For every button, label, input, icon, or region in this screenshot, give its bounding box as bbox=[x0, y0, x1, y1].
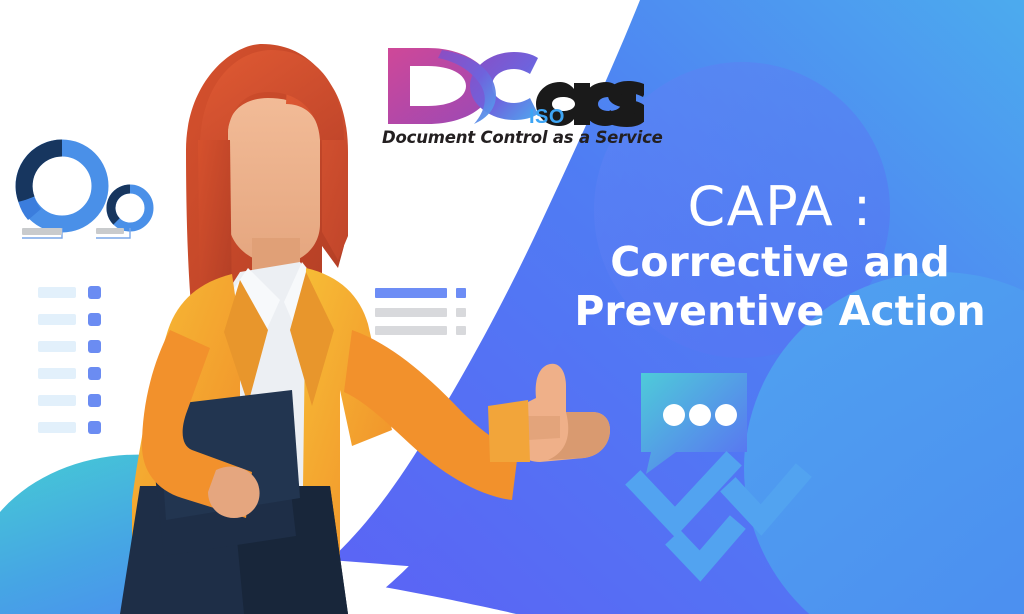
checklist-row bbox=[38, 340, 101, 353]
logo-iso-badge: ISO bbox=[529, 106, 589, 129]
chat-dot bbox=[689, 404, 711, 426]
checklist-row bbox=[38, 286, 101, 299]
headline-line-3: Preventive Action bbox=[560, 287, 1000, 336]
headline-line-1: CAPA : bbox=[560, 176, 1000, 238]
banner-canvas: ISO Document Control as a Service DC aas… bbox=[0, 0, 1024, 614]
chat-dot bbox=[715, 404, 737, 426]
checklist-row bbox=[38, 313, 101, 326]
checklist-row bbox=[38, 367, 101, 380]
checklist-row bbox=[38, 421, 101, 434]
logo-letter-c bbox=[470, 52, 538, 120]
checklist-row bbox=[38, 394, 101, 407]
logo-tagline: Document Control as a Service bbox=[382, 128, 644, 147]
brand-logo[interactable]: ISO Document Control as a Service DC aas bbox=[382, 42, 644, 154]
sleeve-cuff bbox=[488, 400, 530, 462]
headline-block: CAPA : Corrective and Preventive Action bbox=[560, 176, 1000, 336]
chat-dot bbox=[663, 404, 685, 426]
logo-mark bbox=[382, 42, 644, 132]
headline-line-2: Corrective and bbox=[560, 238, 1000, 287]
